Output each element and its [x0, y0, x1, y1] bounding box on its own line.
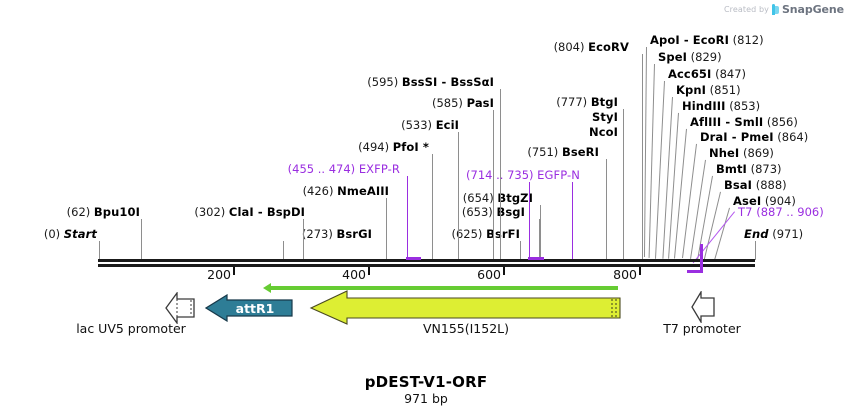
snapgene-linear-map: Created by SnapGene (0) Start (62) Bpu10…: [0, 0, 852, 411]
ruler-tick-600: [503, 267, 505, 275]
caption-t7-promoter: T7 promoter: [663, 321, 741, 336]
backbone-line-top: [98, 259, 755, 262]
plasmid-length: 971 bp: [0, 391, 852, 406]
ruler-tick-400: [368, 267, 370, 275]
ruler-label-200: 200: [207, 267, 232, 282]
page-title: pDEST-V1-ORF: [0, 373, 852, 391]
sequence-ruler[interactable]: 200 400 600 800: [0, 0, 852, 411]
ruler-label-800: 800: [613, 267, 638, 282]
primer-bar-egfp-n[interactable]: [528, 257, 544, 260]
caption-vn155: VN155(I152L): [423, 321, 509, 336]
ruler-label-400: 400: [342, 267, 367, 282]
feature-vn155[interactable]: [309, 289, 627, 325]
ruler-label-600: 600: [477, 267, 502, 282]
green-track-arrowhead-icon: [263, 283, 271, 293]
caption-lac-uv5-promoter: lac UV5 promoter: [76, 321, 186, 336]
feature-lac-uv5-promoter[interactable]: [165, 292, 197, 324]
backbone-line-bottom: [98, 264, 755, 267]
ruler-tick-200: [233, 267, 235, 275]
primer-bar-t7[interactable]: [687, 270, 703, 273]
feature-t7-promoter[interactable]: [690, 291, 718, 323]
primer-vert-t7: [700, 244, 703, 272]
primer-bar-exfp-r[interactable]: [406, 257, 421, 260]
feature-label-attr1: attR1: [236, 301, 275, 316]
ruler-tick-800: [639, 267, 641, 275]
